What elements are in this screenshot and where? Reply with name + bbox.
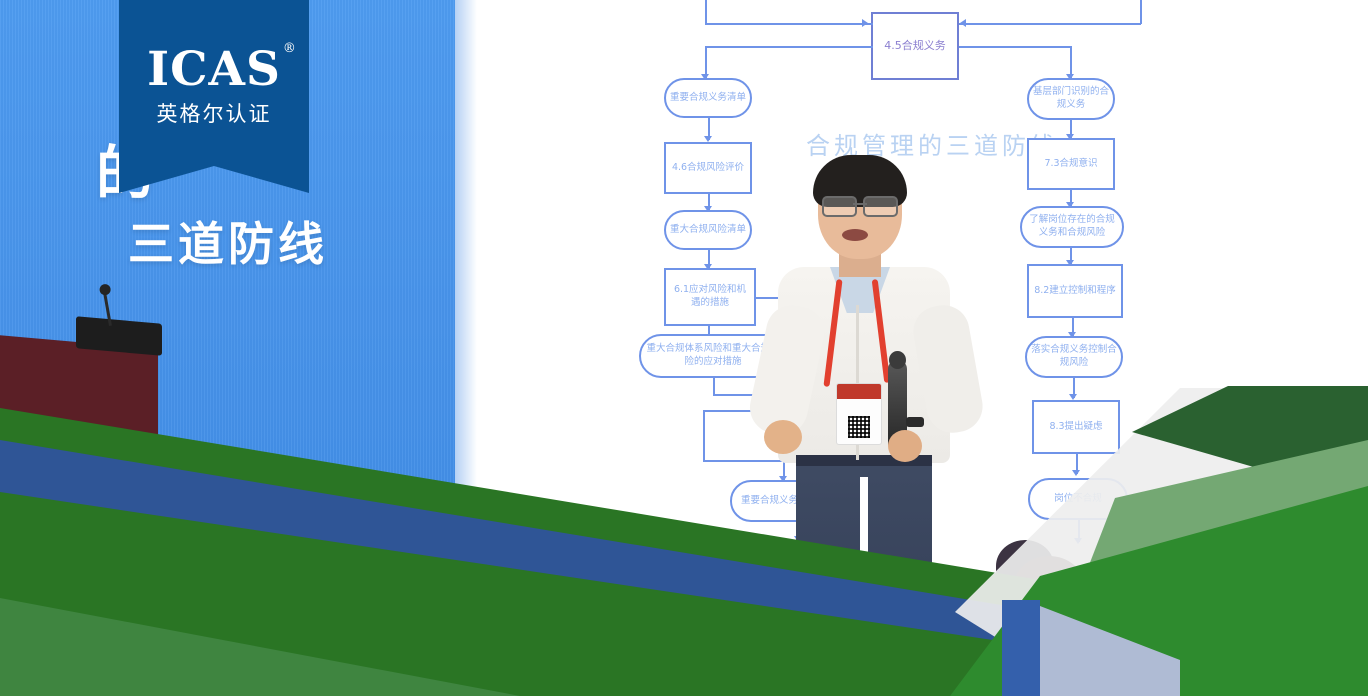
flow-node-post-awareness: 了解岗位存在的合规义务和合规风险 [1020,206,1124,248]
flow-link [959,23,1141,25]
speaker-person [756,155,976,615]
flow-node-7-3: 7.3合规意识 [1027,138,1115,190]
flow-link [713,378,715,394]
flow-node-8-2: 8.2建立控制和程序 [1027,264,1123,318]
speaker-right-hand [888,430,922,462]
flow-node-major-risk-list: 重大合规风险清单 [664,210,752,250]
audience-head [1014,556,1084,616]
flow-link [959,46,1071,48]
flow-node-implement-control: 落实合规义务控制合规风险 [1025,336,1123,378]
flow-node-dept-obligation: 基层部门识别的合规义务 [1027,78,1115,120]
conference-photo: 的 三道防线 合规管理的三道防线 4.5合规义务 重要合规义务 [0,0,1368,696]
icas-wordmark: ICAS® [147,46,281,93]
flow-link [1140,0,1142,24]
registered-trademark-icon: ® [283,42,297,55]
flow-arrow [1074,538,1082,544]
speaker-mouth [842,229,868,241]
flow-node-6-1: 6.1应对风险和机遇的措施 [664,268,756,326]
speaker-watch [906,417,924,427]
badge-header-bar [837,384,881,399]
flow-node-nonconformity: 岗位不合规 [1028,478,1128,520]
flow-arrow [1072,470,1080,476]
icas-brand-text: ICAS [147,42,281,97]
podium [0,335,158,461]
flow-node-8-3: 8.3提出疑虑 [1032,400,1120,454]
flow-arrow [862,19,868,27]
flow-node-key-obligation-list: 重要合规义务清单 [664,78,752,118]
flow-link [705,46,873,48]
icas-chinese-name: 英格尔认证 [119,98,309,128]
speaker-left-hand [764,420,802,454]
eyeglasses-icon [822,196,898,213]
flow-node-4-6: 4.6合规风险评价 [664,142,752,194]
speaker-badge [836,383,882,445]
audience-head [612,538,678,594]
screenshot-stage: 的 三道防线 合规管理的三道防线 4.5合规义务 重要合规义务 [0,0,1368,696]
badge-qr-code [848,416,870,438]
flow-node-4-5: 4.5合规义务 [871,12,959,80]
flow-arrow [960,19,966,27]
flow-link [705,23,873,25]
speaker-leg-gap [860,477,868,617]
icas-logo-banner: ICAS® 英格尔认证 [119,0,309,193]
flow-link [705,0,707,24]
